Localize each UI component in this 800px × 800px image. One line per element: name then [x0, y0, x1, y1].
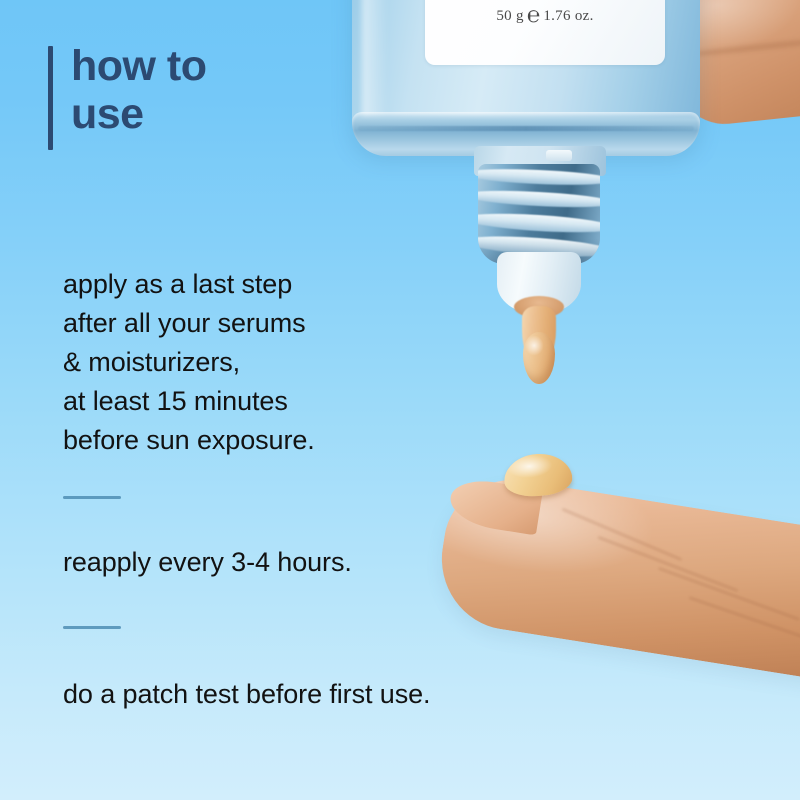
estimated-sign-icon: ℮: [524, 2, 544, 27]
cream-dollop-on-finger: [503, 452, 574, 499]
instruction-step-1: apply as a last step after all your seru…: [63, 265, 483, 460]
nozzle-opening: [514, 296, 564, 318]
nozzle-threads: [478, 164, 600, 264]
section-divider: [63, 496, 121, 499]
bottle-shoulder: [352, 112, 700, 156]
bottle-rim-line: [358, 126, 694, 131]
instructions-block: apply as a last step after all your seru…: [63, 238, 483, 741]
nozzle-collar: [474, 146, 606, 176]
skin-crease: [597, 536, 738, 593]
heading-accent-bar: [48, 46, 53, 150]
collar-notch: [546, 150, 572, 161]
thread-ring: [478, 233, 600, 261]
holding-finger: [652, 0, 800, 130]
product-label: [425, 0, 665, 65]
page-title: how to use: [71, 42, 207, 138]
how-to-use-card: 50 g℮1.76 oz. how to use apply a: [0, 0, 800, 800]
section-divider: [63, 626, 121, 629]
thread-ring: [478, 188, 600, 210]
thread-ring: [478, 210, 600, 235]
bottle-highlight: [362, 0, 388, 130]
product-bottle-body: [352, 0, 700, 150]
nozzle-tip: [497, 252, 581, 314]
thread-shadow: [478, 238, 600, 264]
index-finger: [432, 470, 800, 684]
heading-block: how to use: [48, 46, 207, 150]
net-weight-imperial: 1.76 oz.: [543, 8, 593, 24]
skin-crease: [689, 596, 800, 644]
instruction-step-3: do a patch test before first use.: [63, 675, 483, 714]
instruction-step-2: reapply every 3-4 hours.: [63, 543, 483, 582]
product-label-text: 50 g℮1.76 oz.: [425, 2, 665, 28]
skin-crease: [658, 567, 800, 621]
thread-ring: [478, 167, 600, 188]
cream-stream: [522, 306, 556, 366]
net-weight-metric: 50 g: [496, 8, 523, 24]
cream-droplet: [523, 332, 555, 384]
skin-crease: [562, 508, 683, 562]
